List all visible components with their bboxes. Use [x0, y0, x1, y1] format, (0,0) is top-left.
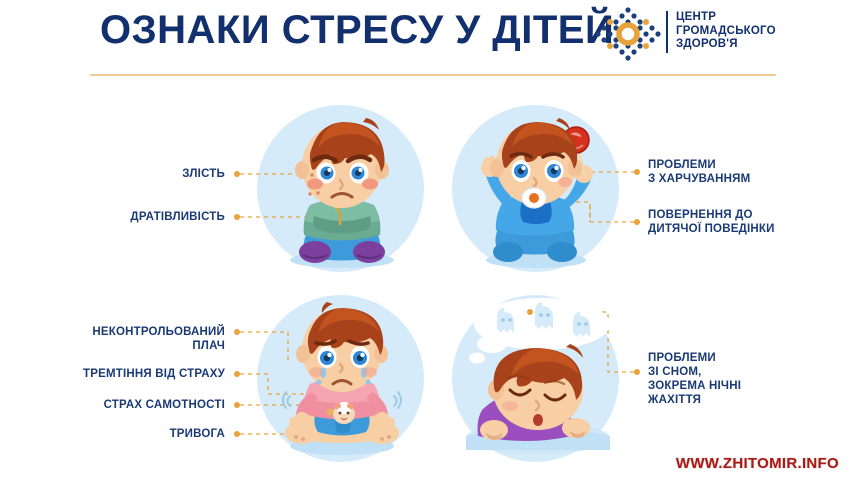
dot-fear-of-loneliness [234, 402, 240, 408]
dot-regression [634, 219, 640, 225]
label-anxiety: ТРИВОГА [45, 427, 225, 441]
org-line-2: ГРОМАДСЬКОГО [676, 25, 776, 39]
dot-sleep-origin [527, 309, 533, 315]
watermark: WWW.ZHITOMIR.INFO [676, 455, 839, 472]
header: ОЗНАКИ СТРЕСУ У ДІТЕЙ [0, 0, 859, 72]
label-sleep-problems: ПРОБЛЕМИ ЗІ СНОМ, ЗОКРЕМА НІЧНІ ЖАХІТТЯ [648, 351, 848, 407]
page-title: ОЗНАКИ СТРЕСУ У ДІТЕЙ [100, 8, 614, 53]
dot-irritability [234, 214, 240, 220]
angry-sitting-child-illustration [270, 110, 415, 270]
org-line-1: ЦЕНТР [676, 11, 776, 25]
logo-divider [666, 11, 668, 53]
dot-eating-problems [634, 169, 640, 175]
label-regression: ПОВЕРНЕННЯ ДО ДИТЯЧОЇ ПОВЕДІНКИ [648, 208, 848, 236]
org-line-3: ЗДОРОВ'Я [676, 38, 776, 52]
header-divider [90, 74, 776, 76]
label-irritability: ДРАТІВЛИВІСТЬ [65, 210, 225, 224]
label-uncontrolled-crying: НЕКОНТРОЛЬОВАНИЙ ПЛАЧ [45, 325, 225, 353]
dot-trembling-fear [234, 371, 240, 377]
radial-dot-burst-icon [592, 6, 664, 62]
crying-child-with-toy-illustration [272, 300, 414, 458]
dot-sleep-problems [634, 369, 640, 375]
label-fear-of-loneliness: СТРАХ САМОТНОСТІ [45, 398, 225, 412]
dot-anxiety [234, 431, 240, 437]
sleeping-child-with-nightmare-thought-bubble-illustration [452, 298, 619, 462]
label-anger: ЗЛІСТЬ [65, 167, 225, 181]
dot-uncontrolled-crying [234, 329, 240, 335]
organization-name: ЦЕНТР ГРОМАДСЬКОГО ЗДОРОВ'Я [676, 11, 776, 52]
dot-anger [234, 171, 240, 177]
infographic-canvas: ОЗНАКИ СТРЕСУ У ДІТЕЙ [0, 0, 859, 484]
baby-with-pacifier-and-lollipop-illustration [466, 112, 611, 270]
label-eating-problems: ПРОБЛЕМИ З ХАРЧУВАННЯМ [648, 158, 848, 186]
label-trembling-fear: ТРЕМТІННЯ ВІД СТРАХУ [45, 367, 225, 381]
